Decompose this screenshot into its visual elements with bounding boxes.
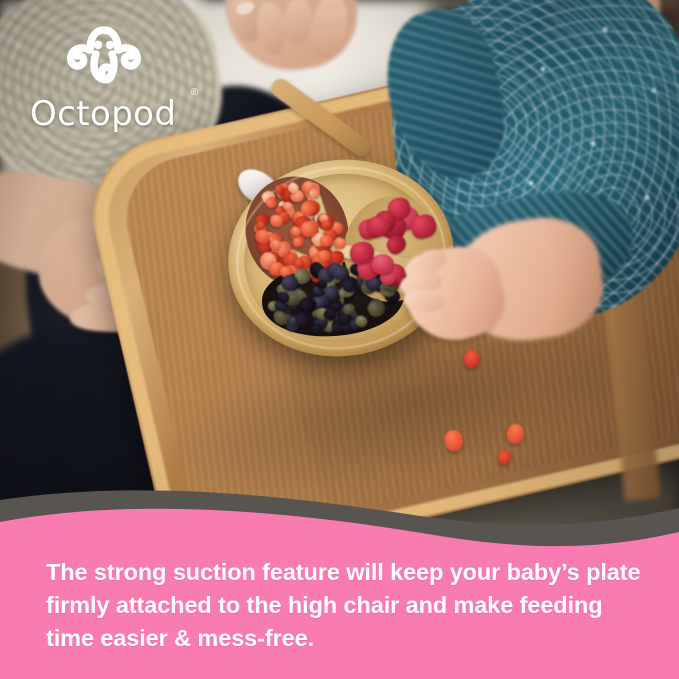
octopus-eye-right: [106, 41, 114, 49]
brand-wordmark: Octopod: [30, 94, 176, 134]
registered-trademark-symbol: ®: [191, 87, 198, 98]
strawberry-piece: [319, 234, 333, 247]
octopus-logo-svg: [62, 24, 146, 90]
marketing-caption: The strong suction feature will keep you…: [46, 556, 646, 655]
octopus-logo-icon: [62, 24, 146, 90]
brand-logo: Octopod ®: [30, 24, 230, 114]
product-marketing-image: The strong suction feature will keep you…: [0, 0, 679, 679]
octopus-eye-left: [94, 41, 102, 49]
